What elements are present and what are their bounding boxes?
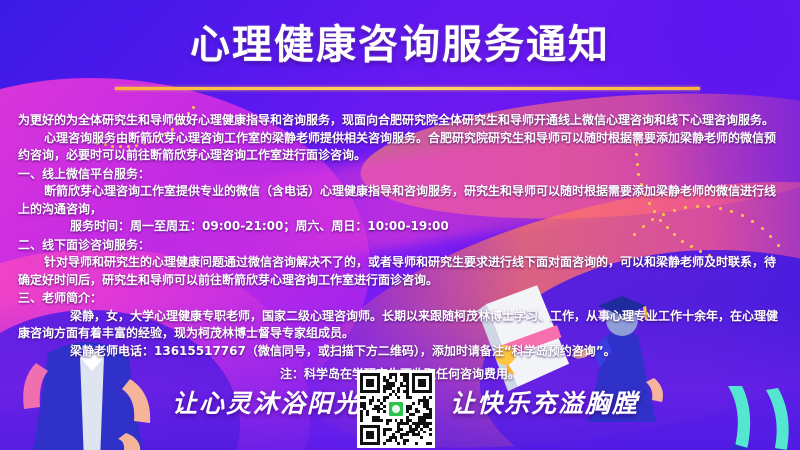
section-1-hours: 服务时间：周一至周五：09:00-21:00；周六、周日：10:00-19:00 bbox=[18, 218, 782, 236]
qr-code-canvas bbox=[360, 373, 432, 445]
section-1-body: 断箭欣芽心理咨询工作室提供专业的微信（含电话）心理健康指导和咨询服务，研究生和导… bbox=[18, 183, 782, 218]
section-2-heading: 二、线下面诊咨询服务： bbox=[18, 237, 782, 255]
wechat-qr-code[interactable] bbox=[357, 370, 435, 448]
section-3-contact: 梁静老师电话：13615517767（微信同号，或扫描下方二维码），添加时请备注… bbox=[18, 343, 782, 361]
poster-root: 心理健康咨询服务通知 为更好的为全体研究生和导师做好心理健康指导和咨询服务，现面… bbox=[0, 0, 800, 450]
slogan-right: 让快乐充溢胸膛 bbox=[450, 384, 639, 420]
intro-paragraph-1: 为更好的为全体研究生和导师做好心理健康指导和咨询服务，现面向合肥研究院全体研究生… bbox=[18, 112, 782, 130]
section-3-heading: 三、老师简介： bbox=[18, 290, 782, 308]
title-underline-rule bbox=[115, 87, 700, 90]
intro-paragraph-2: 心理咨询服务由断箭欣芽心理咨询工作室的梁静老师提供相关咨询服务。合肥研究院研究生… bbox=[18, 130, 782, 165]
poster-title-container: 心理健康咨询服务通知 bbox=[0, 18, 800, 72]
poster-body: 为更好的为全体研究生和导师做好心理健康指导和咨询服务，现面向合肥研究院全体研究生… bbox=[18, 112, 782, 384]
poster-title: 心理健康咨询服务通知 bbox=[190, 18, 610, 72]
section-2-body: 针对导师和研究生的心理健康问题通过微信咨询解决不了的，或者导师和研究生要求进行线… bbox=[18, 254, 782, 289]
slogan-left: 让心灵沐浴阳光 bbox=[172, 384, 361, 420]
wechat-logo-icon bbox=[387, 400, 405, 418]
section-1-heading: 一、线上微信平台服务： bbox=[18, 166, 782, 184]
section-3-body: 梁静，女，大学心理健康专职老师，国家二级心理咨询师。长期以来跟随柯茂林博士学习、… bbox=[18, 308, 782, 343]
